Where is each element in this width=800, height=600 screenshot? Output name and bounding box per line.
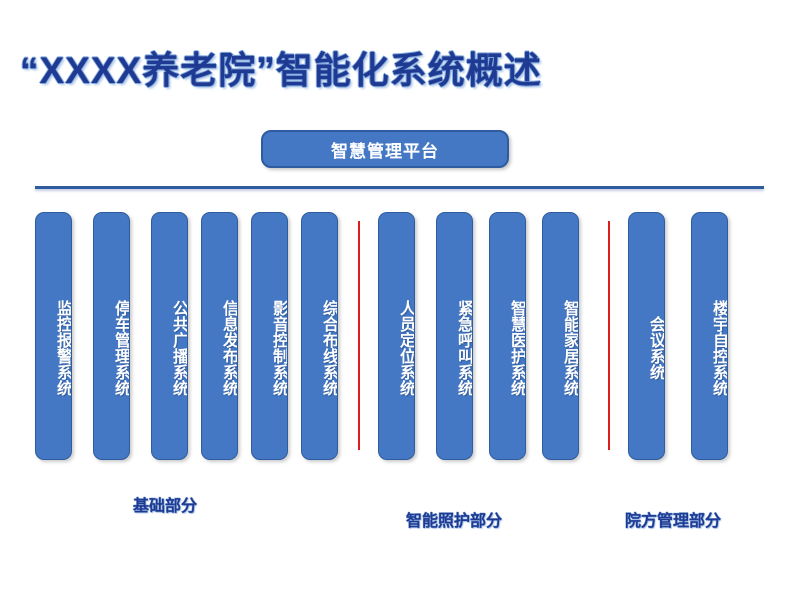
system-bar-label: 影音控制系统 [252,263,287,433]
system-bar-label: 公共广播系统 [152,263,187,433]
group-label-basic: 基础部分 [133,492,197,516]
system-bar-monitoring-alarm[interactable]: 监控报警系统 [35,212,72,460]
system-bar-structured-cabling[interactable]: 综合布线系统 [301,212,338,460]
system-bar-av-control[interactable]: 影音控制系统 [251,212,288,460]
system-bar-label: 监控报警系统 [36,263,71,433]
group-label-smart-care: 智能照护部分 [406,507,502,531]
system-bar-smart-home[interactable]: 智能家居系统 [542,212,579,460]
system-bar-label: 人员定位系统 [379,263,414,433]
system-bar-label: 信息发布系统 [202,263,237,433]
system-bar-conference[interactable]: 会议系统 [628,212,665,460]
system-bar-label: 会议系统 [629,263,664,433]
system-bar-label: 停车管理系统 [94,263,129,433]
system-bar-label: 综合布线系统 [302,263,337,433]
divider-after-basic [358,221,360,450]
page-title: “XXXX养老院”智能化系统概述 [20,40,542,94]
system-bar-label: 智能家居系统 [543,263,578,433]
system-bar-label: 智慧医护系统 [490,263,525,433]
system-bar-personnel-positioning[interactable]: 人员定位系统 [378,212,415,460]
system-bar-smart-medical-care[interactable]: 智慧医护系统 [489,212,526,460]
platform-label: 智慧管理平台 [331,137,439,162]
system-bar-parking-management[interactable]: 停车管理系统 [93,212,130,460]
system-bar-public-broadcast[interactable]: 公共广播系统 [151,212,188,460]
smart-management-platform-box[interactable]: 智慧管理平台 [261,130,509,168]
system-bar-emergency-call[interactable]: 紧急呼叫系统 [436,212,473,460]
system-bar-label: 楼宇自控系统 [692,263,727,433]
system-bar-label: 紧急呼叫系统 [437,263,472,433]
group-label-hospital-management: 院方管理部分 [625,507,721,531]
horizontal-bus-line [35,186,764,189]
system-bar-building-automation[interactable]: 楼宇自控系统 [691,212,728,460]
system-bar-information-publishing[interactable]: 信息发布系统 [201,212,238,460]
divider-after-care [608,221,610,450]
